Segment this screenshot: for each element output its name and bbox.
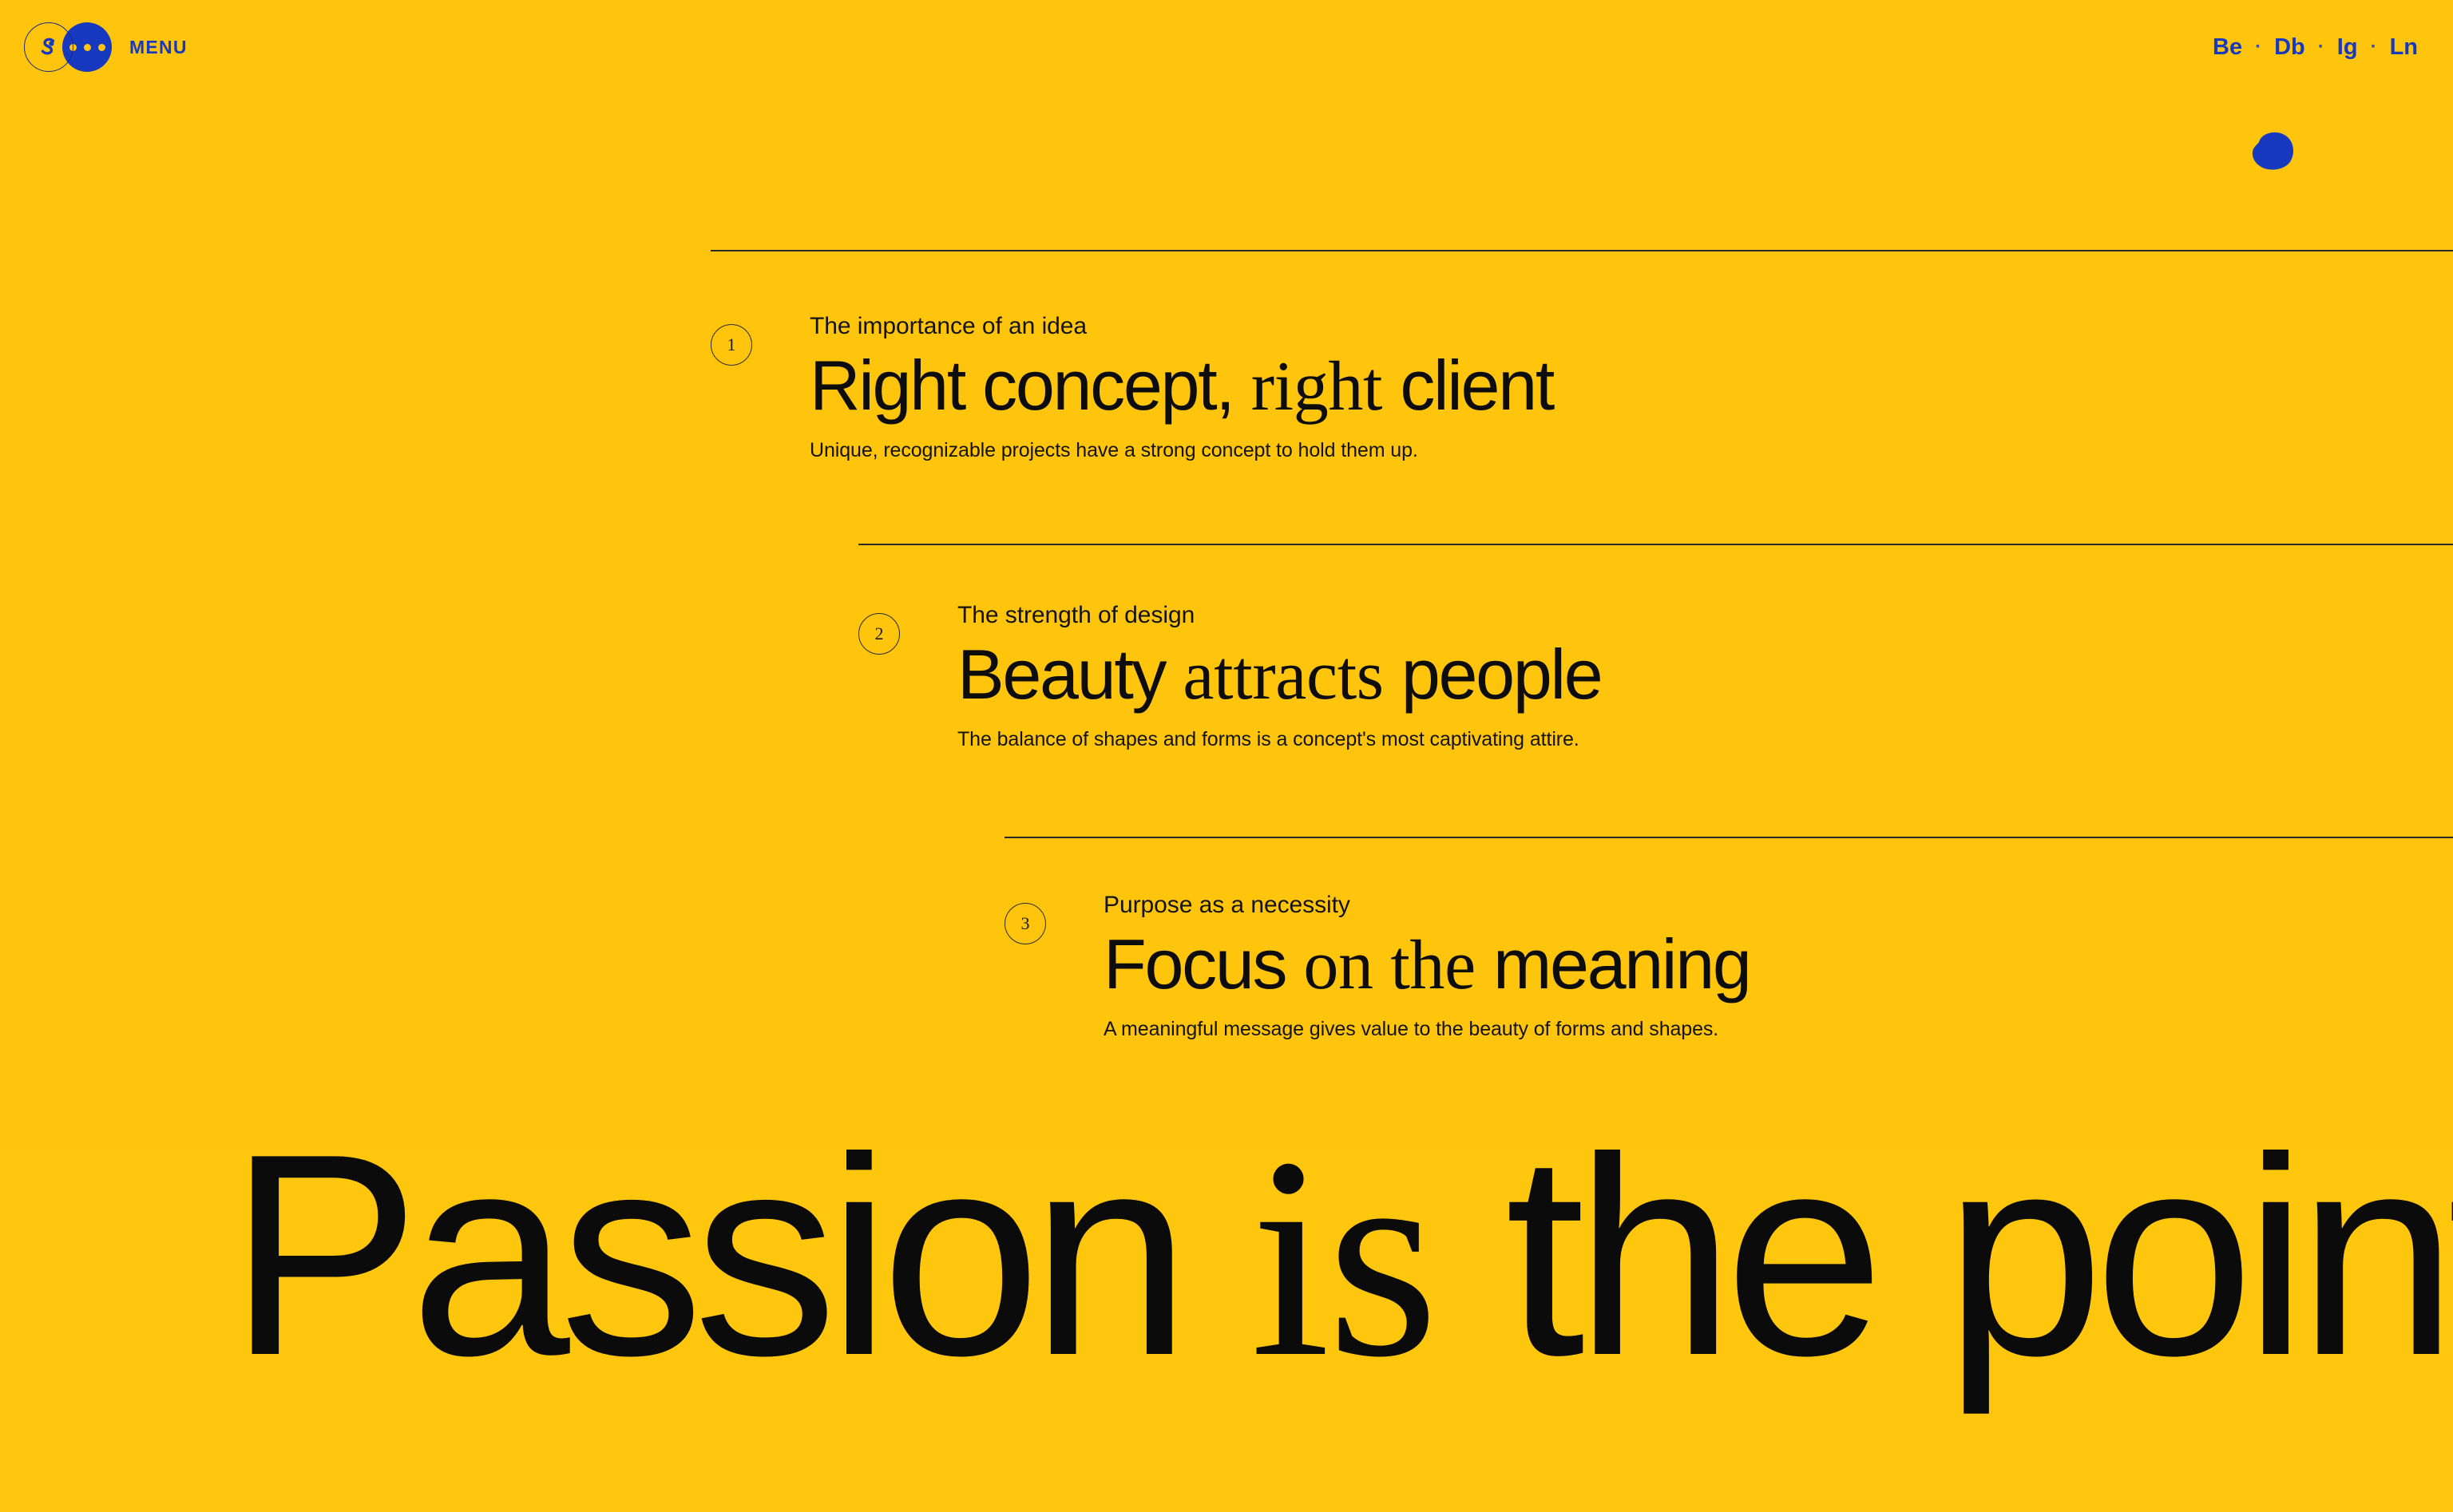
principle-eyebrow-2: The strength of design	[957, 602, 1601, 628]
principle-body-3: Purpose as a necessity Focus on the mean…	[1104, 892, 1750, 1041]
headline-part-sans-2: meaning	[1493, 924, 1750, 1003]
principle-headline-1: Right concept, right client	[810, 347, 1553, 425]
three-dots-icon-dot-3	[98, 44, 105, 51]
divider-3	[1005, 837, 2453, 838]
social-separator-1: ·	[2255, 36, 2261, 58]
principle-subtitle-1: Unique, recognizable projects have a str…	[810, 439, 1553, 462]
principle-body-2: The strength of design Beauty attracts p…	[957, 602, 1601, 751]
principle-item-1: 1 The importance of an idea Right concep…	[711, 313, 1553, 462]
social-separator-2: ·	[2318, 36, 2324, 58]
social-link-db[interactable]: Db	[2274, 34, 2305, 61]
band-headline-part-sans-2: the point	[1505, 1150, 2453, 1415]
principle-eyebrow-3: Purpose as a necessity	[1104, 892, 1750, 918]
menu-label[interactable]: MENU	[129, 37, 188, 58]
headline-part-sans: Beauty	[957, 635, 1165, 714]
headline-part-sans: Focus	[1104, 924, 1286, 1003]
band-headline-part-serif: is	[1250, 1150, 1435, 1416]
page-root: MENU Be · Db · Ig · Ln 1 The importance …	[0, 0, 2453, 1512]
principle-headline-2: Beauty attracts people	[957, 636, 1601, 714]
brand-cluster: MENU	[24, 22, 188, 72]
blue-blob-icon	[2248, 128, 2299, 172]
divider-1	[711, 250, 2453, 251]
principle-headline-3: Focus on the meaning	[1104, 926, 1750, 1003]
principle-item-2: 2 The strength of design Beauty attracts…	[858, 602, 1601, 751]
site-header: MENU Be · Db · Ig · Ln	[0, 0, 2453, 94]
divider-2	[858, 544, 2453, 545]
social-separator-3: ·	[2371, 36, 2377, 58]
band-headline: Passion is the point	[228, 1150, 2453, 1401]
band-headline-part-sans: Passion	[228, 1150, 1181, 1415]
principle-subtitle-3: A meaningful message gives value to the …	[1104, 1018, 1750, 1041]
headline-part-sans: Right concept,	[810, 346, 1234, 425]
social-links: Be · Db · Ig · Ln	[2213, 34, 2418, 61]
principle-eyebrow-1: The importance of an idea	[810, 313, 1553, 339]
social-link-be[interactable]: Be	[2213, 34, 2242, 61]
bottom-band: Passion is the point	[0, 1150, 2453, 1512]
headline-part-serif: right	[1251, 348, 1382, 425]
principle-number-badge-3: 3	[1005, 903, 1046, 944]
social-link-ig[interactable]: Ig	[2337, 34, 2358, 61]
logo-mark[interactable]	[24, 22, 73, 72]
logo-s-icon	[35, 34, 62, 61]
principle-number-badge-1: 1	[711, 324, 752, 366]
principle-subtitle-2: The balance of shapes and forms is a con…	[957, 728, 1601, 751]
principle-item-3: 3 Purpose as a necessity Focus on the me…	[1005, 892, 1750, 1041]
social-link-ln[interactable]: Ln	[2390, 34, 2418, 61]
headline-part-serif: on the	[1303, 927, 1475, 1004]
headline-part-sans-2: client	[1400, 346, 1553, 425]
principle-number-badge-2: 2	[858, 613, 900, 655]
headline-part-sans-2: people	[1401, 635, 1602, 714]
headline-part-serif: attracts	[1183, 637, 1383, 714]
three-dots-icon-dot-2	[84, 44, 91, 51]
principle-body-1: The importance of an idea Right concept,…	[810, 313, 1553, 462]
